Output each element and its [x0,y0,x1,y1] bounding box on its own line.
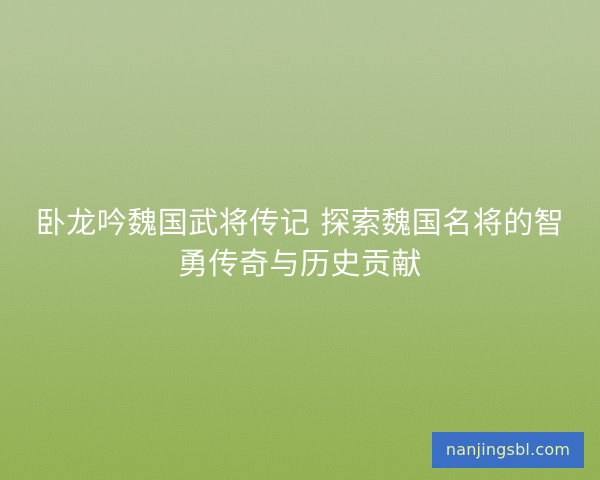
watermark-label: nanjingsbl.com [446,442,570,458]
poster-title: 卧龙吟魏国武将传记 探索魏国名将的智勇传奇与历史贡献 [0,203,600,285]
poster-canvas: 卧龙吟魏国武将传记 探索魏国名将的智勇传奇与历史贡献 nanjingsbl.co… [0,0,600,480]
watermark-badge: nanjingsbl.com [432,432,584,468]
